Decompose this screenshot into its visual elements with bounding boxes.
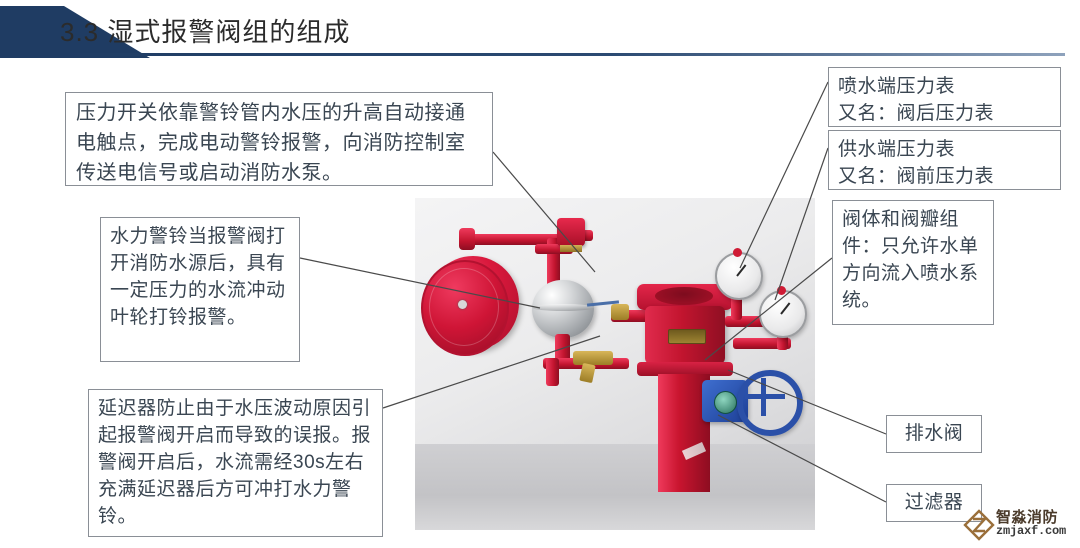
callout-water-motor-gong[interactable]: 水力警铃当报警阀打开消防水源后，具有一定压力的水流冲动叶轮打铃报警。 xyxy=(100,217,300,362)
callout-gauge-before[interactable]: 供水端压力表 又名：阀前压力表 xyxy=(828,130,1061,190)
pressure-gauge-before-port xyxy=(777,286,786,295)
pressure-gauge-after xyxy=(715,252,763,300)
callout-retard-chamber[interactable]: 延迟器防止由于水压波动原因引起报警阀开启而导致的误报。报警阀开启后，水流需经30… xyxy=(88,389,383,537)
valve-bore xyxy=(655,287,713,305)
filter-indicator-dial xyxy=(714,391,737,414)
valve-nameplate xyxy=(668,329,706,344)
brass-check-fitting xyxy=(611,304,629,320)
callout-pressure-switch[interactable]: 压力开关依靠警铃管内水压的升高自动接通电触点，完成电动警铃报警，向消防控制室传送… xyxy=(65,92,493,186)
photo-floor-shadow xyxy=(415,444,815,530)
header-divider-rule xyxy=(55,53,1065,56)
callout-gauge-before-line1: 供水端压力表 xyxy=(838,136,1051,163)
pipe-elbow-left xyxy=(459,228,475,250)
brand-url: zmjaxf.com xyxy=(996,524,1066,538)
callout-gauge-after-line2: 又名：阀后压力表 xyxy=(838,100,1051,127)
handwheel-spoke-v xyxy=(761,378,766,416)
pressure-switch-base xyxy=(560,245,582,252)
water-motor-gong-hub xyxy=(458,300,467,309)
brass-drain-spout xyxy=(579,363,595,383)
callout-gauge-after-line1: 喷水端压力表 xyxy=(838,73,1051,100)
watermark: 智淼消防 zmjaxf.com xyxy=(963,505,1078,547)
product-photo xyxy=(415,198,815,530)
pressure-gauge-before xyxy=(759,290,807,338)
gate-valve-handwheel xyxy=(737,370,803,436)
callout-gauge-after[interactable]: 喷水端压力表 又名：阀后压力表 xyxy=(828,67,1061,127)
retard-chamber-band xyxy=(532,304,594,311)
slide-header: 3.3 湿式报警阀组的组成 xyxy=(0,0,1080,62)
pipe-left-drop xyxy=(546,358,559,386)
callout-gauge-before-line2: 又名：阀前压力表 xyxy=(838,163,1051,190)
pressure-gauge-after-port xyxy=(733,248,742,257)
callout-valve-body[interactable]: 阀体和阀瓣组件：只允许水单方向流入喷水系统。 xyxy=(832,200,994,325)
brand-logo-icon xyxy=(963,509,995,541)
callout-drain-valve[interactable]: 排水阀 xyxy=(886,415,982,453)
pressure-switch xyxy=(557,218,585,246)
page-title: 3.3 湿式报警阀组的组成 xyxy=(60,17,350,47)
brass-strainer-fitting xyxy=(573,351,613,365)
